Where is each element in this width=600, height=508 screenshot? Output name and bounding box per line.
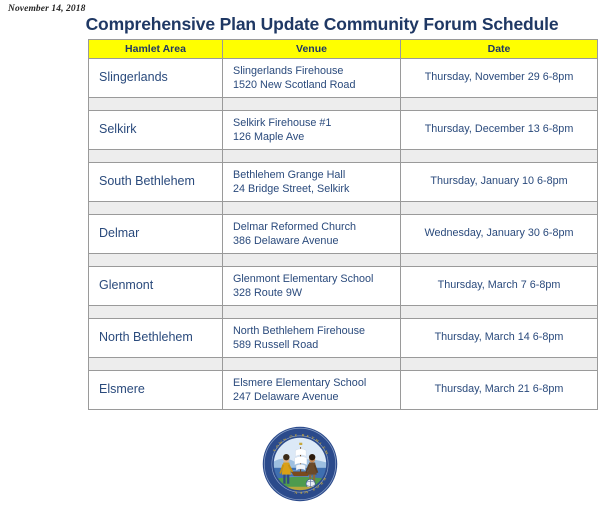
cell-venue: Glenmont Elementary School 328 Route 9W — [223, 267, 401, 306]
table-spacer-row — [89, 98, 598, 111]
table-spacer-row — [89, 150, 598, 163]
table-row: South Bethlehem Bethlehem Grange Hall 24… — [89, 163, 598, 202]
column-header-date: Date — [401, 40, 598, 59]
cell-venue: Selkirk Firehouse #1 126 Maple Ave — [223, 111, 401, 150]
cell-date: Thursday, December 13 6-8pm — [401, 111, 598, 150]
venue-name: Glenmont Elementary School — [233, 272, 400, 286]
venue-address: 126 Maple Ave — [233, 130, 400, 144]
cell-date: Thursday, March 7 6-8pm — [401, 267, 598, 306]
venue-name: Elsmere Elementary School — [233, 376, 400, 390]
column-header-venue: Venue — [223, 40, 401, 59]
town-seal-icon: T O W N O F B E T H L E M N E W Y O R K — [262, 426, 338, 502]
spacer-cell-date — [401, 202, 598, 215]
cell-hamlet-area: Elsmere — [89, 371, 223, 410]
venue-address: 247 Delaware Avenue — [233, 390, 400, 404]
table-row: Delmar Delmar Reformed Church 386 Delawa… — [89, 215, 598, 254]
cell-venue: Delmar Reformed Church 386 Delaware Aven… — [223, 215, 401, 254]
venue-address: 589 Russell Road — [233, 338, 400, 352]
table-row: Elsmere Elsmere Elementary School 247 De… — [89, 371, 598, 410]
table-spacer-row — [89, 358, 598, 371]
spacer-cell-date — [401, 150, 598, 163]
spacer-cell-hamlet — [89, 306, 223, 319]
schedule-table: Hamlet Area Venue Date Slingerlands Slin… — [88, 39, 598, 410]
venue-address: 386 Delaware Avenue — [233, 234, 400, 248]
table-body: Slingerlands Slingerlands Firehouse 1520… — [89, 59, 598, 410]
spacer-cell-date — [401, 358, 598, 371]
venue-name: Bethlehem Grange Hall — [233, 168, 400, 182]
table-row: North Bethlehem North Bethlehem Firehous… — [89, 319, 598, 358]
spacer-cell-venue — [223, 150, 401, 163]
cell-venue: Elsmere Elementary School 247 Delaware A… — [223, 371, 401, 410]
cell-date: Thursday, January 10 6-8pm — [401, 163, 598, 202]
cell-venue: Slingerlands Firehouse 1520 New Scotland… — [223, 59, 401, 98]
venue-name: Selkirk Firehouse #1 — [233, 116, 400, 130]
table-row: Selkirk Selkirk Firehouse #1 126 Maple A… — [89, 111, 598, 150]
table-row: Glenmont Glenmont Elementary School 328 … — [89, 267, 598, 306]
cell-date: Thursday, November 29 6-8pm — [401, 59, 598, 98]
cell-venue: North Bethlehem Firehouse 589 Russell Ro… — [223, 319, 401, 358]
spacer-cell-hamlet — [89, 98, 223, 111]
cell-hamlet-area: Slingerlands — [89, 59, 223, 98]
venue-address: 24 Bridge Street, Selkirk — [233, 182, 400, 196]
spacer-cell-venue — [223, 306, 401, 319]
spacer-cell-hamlet — [89, 254, 223, 267]
cell-venue: Bethlehem Grange Hall 24 Bridge Street, … — [223, 163, 401, 202]
venue-name: North Bethlehem Firehouse — [233, 324, 400, 338]
cell-hamlet-area: Glenmont — [89, 267, 223, 306]
spacer-cell-venue — [223, 98, 401, 111]
table-spacer-row — [89, 254, 598, 267]
table-spacer-row — [89, 202, 598, 215]
table-spacer-row — [89, 306, 598, 319]
schedule-table-container: Hamlet Area Venue Date Slingerlands Slin… — [88, 39, 597, 410]
cell-hamlet-area: South Bethlehem — [89, 163, 223, 202]
column-header-hamlet-area: Hamlet Area — [89, 40, 223, 59]
venue-address: 328 Route 9W — [233, 286, 400, 300]
document-date: November 14, 2018 — [8, 4, 85, 14]
table-header: Hamlet Area Venue Date — [89, 40, 598, 59]
cell-date: Thursday, March 14 6-8pm — [401, 319, 598, 358]
seal-container: T O W N O F B E T H L E M N E W Y O R K — [0, 426, 600, 502]
spacer-cell-hamlet — [89, 202, 223, 215]
spacer-cell-hamlet — [89, 150, 223, 163]
spacer-cell-venue — [223, 358, 401, 371]
spacer-cell-hamlet — [89, 358, 223, 371]
venue-address: 1520 New Scotland Road — [233, 78, 400, 92]
spacer-cell-date — [401, 254, 598, 267]
spacer-cell-venue — [223, 254, 401, 267]
venue-name: Delmar Reformed Church — [233, 220, 400, 234]
spacer-cell-date — [401, 306, 598, 319]
table-row: Slingerlands Slingerlands Firehouse 1520… — [89, 59, 598, 98]
table-header-row: Hamlet Area Venue Date — [89, 40, 598, 59]
cell-hamlet-area: Delmar — [89, 215, 223, 254]
cell-date: Wednesday, January 30 6-8pm — [401, 215, 598, 254]
venue-name: Slingerlands Firehouse — [233, 64, 400, 78]
spacer-cell-date — [401, 98, 598, 111]
cell-hamlet-area: Selkirk — [89, 111, 223, 150]
cell-hamlet-area: North Bethlehem — [89, 319, 223, 358]
cell-date: Thursday, March 21 6-8pm — [401, 371, 598, 410]
spacer-cell-venue — [223, 202, 401, 215]
page-title: Comprehensive Plan Update Community Foru… — [0, 14, 600, 35]
